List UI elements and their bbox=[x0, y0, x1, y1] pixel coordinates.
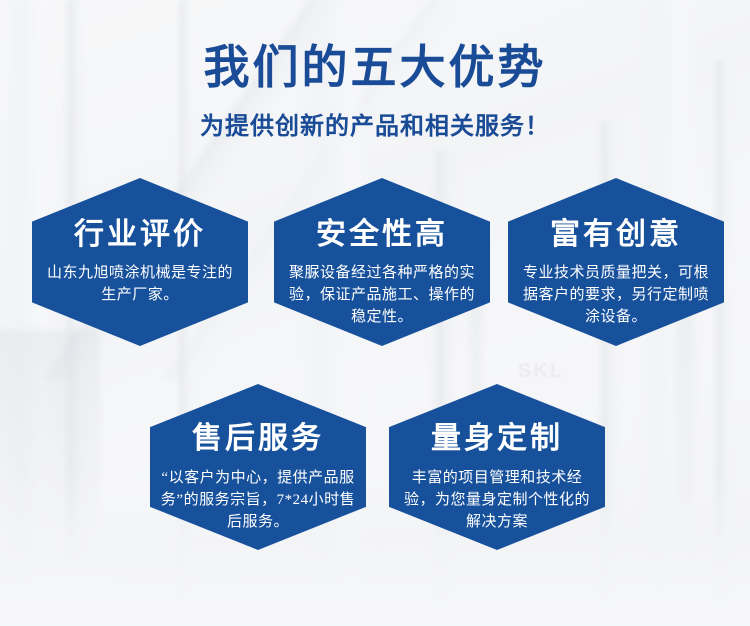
page-subtitle: 为提供创新的产品和相关服务！ bbox=[0, 106, 750, 141]
advantage-description: 山东九旭喷涂机械是专注的生产厂家。 bbox=[42, 263, 238, 307]
advantages-banner: SKL 我们的五大优势 为提供创新的产品和相关服务！ 行业评价 山东九旭喷涂机械… bbox=[0, 0, 750, 626]
page-title: 我们的五大优势 bbox=[0, 44, 750, 92]
advantage-title: 富有创意 bbox=[550, 220, 682, 250]
heading-block: 我们的五大优势 为提供创新的产品和相关服务！ bbox=[0, 44, 750, 141]
advantage-title: 量身定制 bbox=[431, 424, 563, 454]
advantage-title: 行业评价 bbox=[74, 220, 206, 250]
advantage-title: 售后服务 bbox=[192, 424, 324, 454]
advantage-title: 安全性高 bbox=[316, 220, 448, 250]
